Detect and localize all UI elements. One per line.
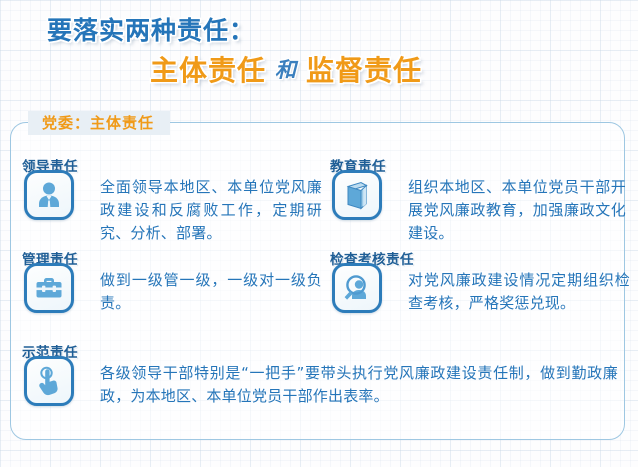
headline-line-1: 要落实两种责任： (47, 16, 255, 46)
card-badge-label: 党委：主体责任 (28, 111, 170, 135)
headline-block: 要落实两种责任： 主体责任和监督责任 (0, 0, 638, 106)
item-description: 全面领导本地区、本单位党风廉政建设和反腐败工作，定期研究、分析、部署。 (100, 176, 322, 245)
headline-line-2: 主体责任和监督责任 (150, 53, 422, 88)
person-icon (24, 170, 74, 220)
book-icon (332, 170, 382, 220)
briefcase-icon (24, 263, 74, 313)
headline-part-b: 监督责任 (306, 54, 422, 87)
item-description: 组织本地区、本单位党员干部开展党风廉政教育，加强廉政文化建设。 (408, 176, 626, 245)
magnifier-person-icon (332, 263, 382, 313)
pointing-hand-icon (24, 356, 74, 406)
item-description: 各级领导干部特别是“一把手”要带头执行党风廉政建设责任制，做到勤政廉政，为本地区… (100, 362, 618, 408)
infographic-page: 要落实两种责任： 主体责任和监督责任 党委：主体责任 领导责任 全面领导本地区、… (0, 0, 638, 467)
item-description: 做到一级管一级，一级对一级负责。 (100, 269, 322, 315)
item-description: 对党风廉政建设情况定期组织检查考核，严格奖惩兑现。 (408, 269, 630, 315)
headline-part-a: 主体责任 (150, 54, 266, 87)
headline-conjunction: 和 (266, 58, 306, 82)
